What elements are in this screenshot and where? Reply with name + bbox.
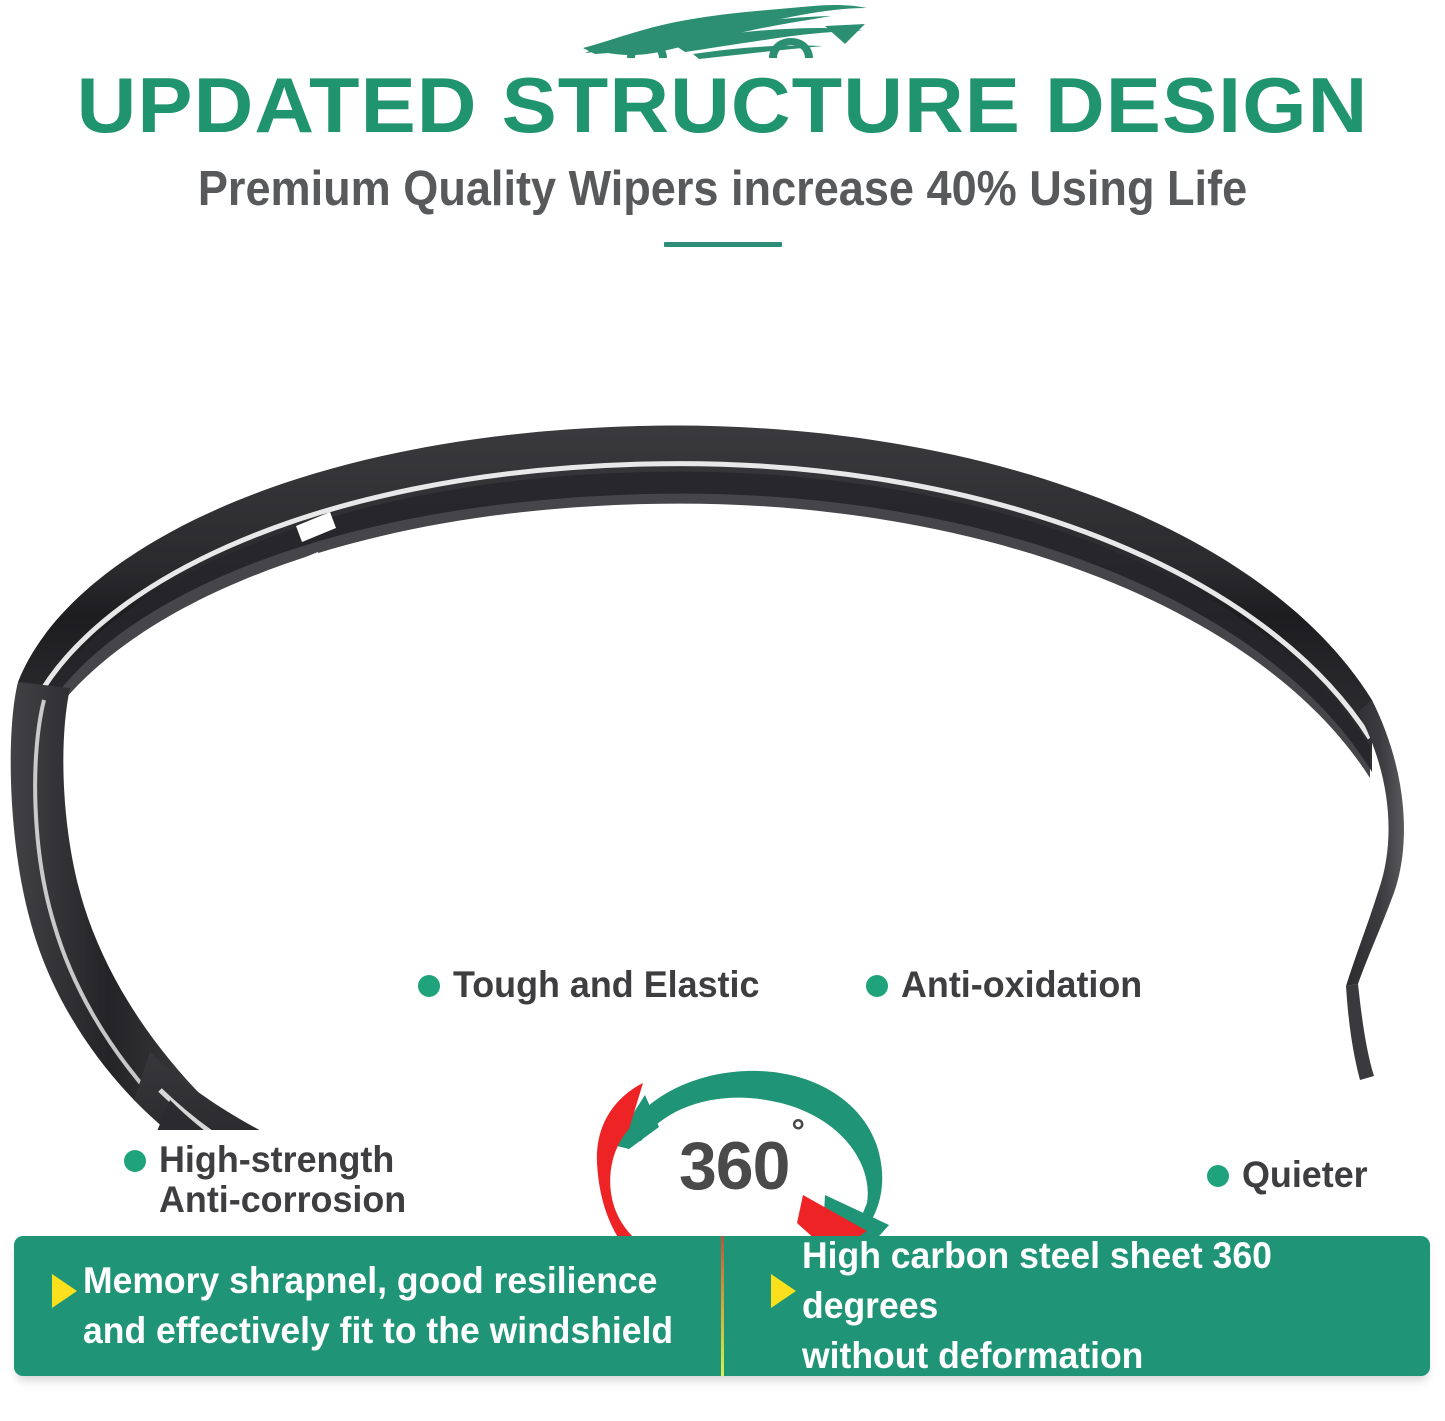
play-triangle-icon [771,1274,796,1308]
title-divider [664,242,782,247]
banner-text-left: Memory shrapnel, good resilience and eff… [83,1256,673,1356]
bullet-dot-icon [866,975,888,997]
feature-label: Anti-oxidation [901,965,1142,1005]
feature-label: High-strength Anti-corrosion [159,1140,406,1220]
banner-column-left: Memory shrapnel, good resilience and eff… [14,1236,711,1376]
feature-tough-and-elastic: Tough and Elastic [418,965,769,1005]
banner-right-line2: without deformation [802,1331,1405,1381]
banner-column-right: High carbon steel sheet 360 degrees with… [711,1236,1430,1376]
feature-label-line2: Anti-corrosion [159,1180,406,1220]
product-stage: Tough and Elastic Anti-oxidation High-st… [0,400,1445,1130]
feature-anti-oxidation: Anti-oxidation [866,965,1150,1005]
banner-left-line1: Memory shrapnel, good resilience [83,1256,673,1306]
feature-quieter: Quieter [1207,1155,1372,1195]
bullet-dot-icon [124,1150,146,1172]
feature-high-strength-anti-corrosion: High-strength Anti-corrosion [124,1140,414,1220]
wiper-steel-strip-image [0,400,1445,1130]
bottom-feature-banner: Memory shrapnel, good resilience and eff… [14,1236,1430,1376]
page-subtitle: Premium Quality Wipers increase 40% Usin… [58,158,1387,220]
bullet-dot-icon [418,975,440,997]
feature-label: Quieter [1242,1155,1368,1195]
play-triangle-icon [52,1274,77,1308]
car-silhouette-logo-icon [573,4,873,62]
header: UPDATED STRUCTURE DESIGN Premium Quality… [0,0,1445,247]
banner-text-right: High carbon steel sheet 360 degrees with… [802,1231,1405,1381]
banner-right-line1: High carbon steel sheet 360 degrees [802,1231,1405,1331]
feature-label-line1: High-strength [159,1140,406,1180]
feature-label: Tough and Elastic [453,965,759,1005]
bullet-dot-icon [1207,1165,1229,1187]
page-title: UPDATED STRUCTURE DESIGN [0,64,1445,146]
banner-left-line2: and effectively fit to the windshield [83,1306,673,1356]
